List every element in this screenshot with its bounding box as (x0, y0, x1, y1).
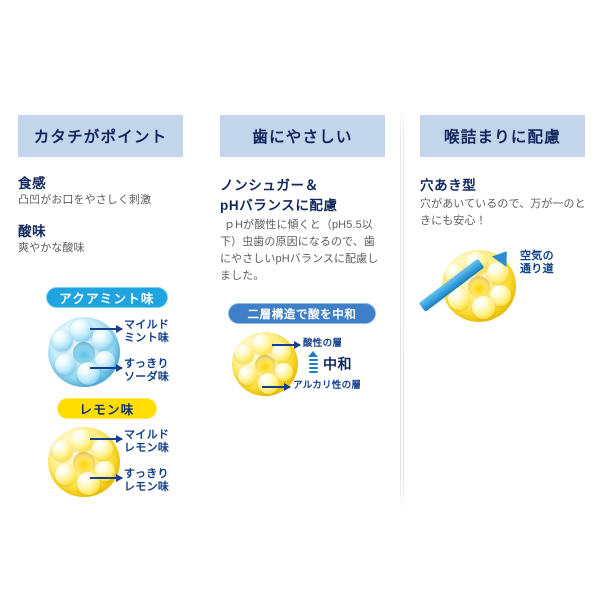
section-heading-hole-type: 穴あき型 (420, 174, 476, 194)
section-body-sourness: 爽やかな酸味 (18, 240, 193, 257)
column-divider-2 (400, 110, 401, 510)
callout-mild-lemon: マイルド レモン味 (124, 429, 169, 456)
section-body-ph: ｐHが酸性に傾くと（pH5.5以下）虫歯の原因になるので、歯にやさしいpHバラン… (220, 217, 383, 285)
feature-columns: カタチがポイント 食感 凸凹がお口をやさしく刺激 酸味 爽やかな酸味 アクアミン… (0, 110, 600, 520)
ladder-bar (309, 367, 318, 369)
column-throat: 喉詰まりに配慮 穴あき型 穴があいているので、万が一のときにも安心！ 空気の 通 (400, 110, 600, 520)
flavor-pill-lemon: レモン味 (57, 398, 157, 419)
callout-soda: すっきり ソーダ味 (124, 358, 169, 385)
callout-line1: 空気の (520, 250, 554, 263)
candy-bead (77, 362, 100, 385)
column-teeth: 歯にやさしい ノンシュガー＆ pHバランスに配慮 ｐHが酸性に傾くと（pH5.5… (200, 110, 400, 520)
callout-line1: すっきり (124, 468, 169, 481)
candy-bead (55, 354, 76, 375)
callout-line2: 通り道 (520, 263, 554, 276)
candy-center-hole (468, 276, 490, 298)
callout-line2: レモン味 (124, 481, 169, 494)
candy-bead (92, 439, 113, 460)
section-heading-texture: 食感 (18, 172, 46, 192)
column-header-band-teeth: 歯にやさしい (220, 115, 385, 157)
callout-line1: マイルド (124, 429, 169, 442)
column-header-label-shape: カタチがポイント (34, 125, 168, 147)
callout-sharp-lemon: すっきり レモン味 (124, 468, 169, 495)
section-heading-sourness: 酸味 (18, 220, 46, 240)
callout-line2: ソーダ味 (124, 371, 169, 384)
up-arrow-ladder-icon (305, 351, 321, 377)
callout-arrow-soda (90, 367, 122, 369)
callout-alkaline-layer: アルカリ性の層 (293, 380, 361, 392)
candy-bead (472, 296, 495, 319)
candy-bead (77, 472, 100, 495)
diagram-pill-two-layer: 二層構造で酸を中和 (228, 303, 376, 324)
flavor-pill-aquamint: アクアミント味 (46, 287, 168, 308)
candy-bead (52, 440, 73, 461)
neutralize-indicator: 中和 (305, 351, 352, 377)
callout-line1: マイルド (124, 319, 169, 332)
column-header-label-teeth: 歯にやさしい (252, 125, 352, 147)
candy-bead (70, 429, 93, 452)
flavor-pill-label-aquamint: アクアミント味 (59, 288, 155, 307)
section-body-hole-type: 穴があいているので、万が一のときにも安心！ (420, 196, 588, 230)
candy-bead (92, 329, 113, 350)
diagram-pill-label-two-layer: 二層構造で酸を中和 (248, 306, 357, 322)
candy-bead (238, 366, 257, 385)
callout-acid-layer: 酸性の層 (303, 338, 342, 350)
column-header-label-throat: 喉詰まりに配慮 (444, 125, 561, 147)
candy-center-hole (73, 452, 95, 474)
callout-air-passage: 空気の 通り道 (520, 250, 554, 277)
candy-bead (55, 464, 76, 485)
neutralize-label: 中和 (323, 354, 352, 374)
candy-center-hole (255, 355, 275, 375)
candy-bead (52, 330, 73, 351)
ladder-bar (309, 363, 318, 365)
callout-arrow-sharp-lemon (90, 477, 122, 479)
candy-bead (70, 319, 93, 342)
callout-mild-mint: マイルド ミント味 (124, 319, 169, 346)
column-shape: カタチがポイント 食感 凸凹がお口をやさしく刺激 酸味 爽やかな酸味 アクアミン… (0, 110, 200, 520)
callout-arrow-mild-lemon (90, 438, 122, 440)
callout-line2: ミント味 (124, 332, 169, 345)
callout-arrow-alkaline-layer (262, 386, 290, 388)
callout-line1: すっきり (124, 358, 169, 371)
candy-center-hole (73, 342, 95, 364)
ladder-bar (309, 371, 318, 373)
section-heading-nonsugar-line1: ノンシュガー＆ (220, 174, 319, 194)
candy-bead (235, 344, 254, 363)
candy-bead (258, 373, 279, 394)
ladder-bar (309, 359, 318, 361)
candy-bead (252, 334, 273, 355)
section-body-texture: 凸凹がお口をやさしく刺激 (18, 192, 193, 209)
arrow-head (308, 351, 318, 357)
flavor-pill-label-lemon: レモン味 (79, 399, 134, 418)
column-header-band-throat: 喉詰まりに配慮 (420, 115, 585, 157)
callout-line2: レモン味 (124, 442, 169, 455)
feature-sheet: カタチがポイント 食感 凸凹がお口をやさしく刺激 酸味 爽やかな酸味 アクアミン… (0, 0, 600, 600)
column-header-band-shape: カタチがポイント (18, 115, 183, 157)
callout-arrow-acid-layer (272, 344, 300, 346)
callout-arrow-mild-mint (90, 328, 122, 330)
section-heading-nonsugar-line2: pHバランスに配慮 (220, 194, 338, 214)
